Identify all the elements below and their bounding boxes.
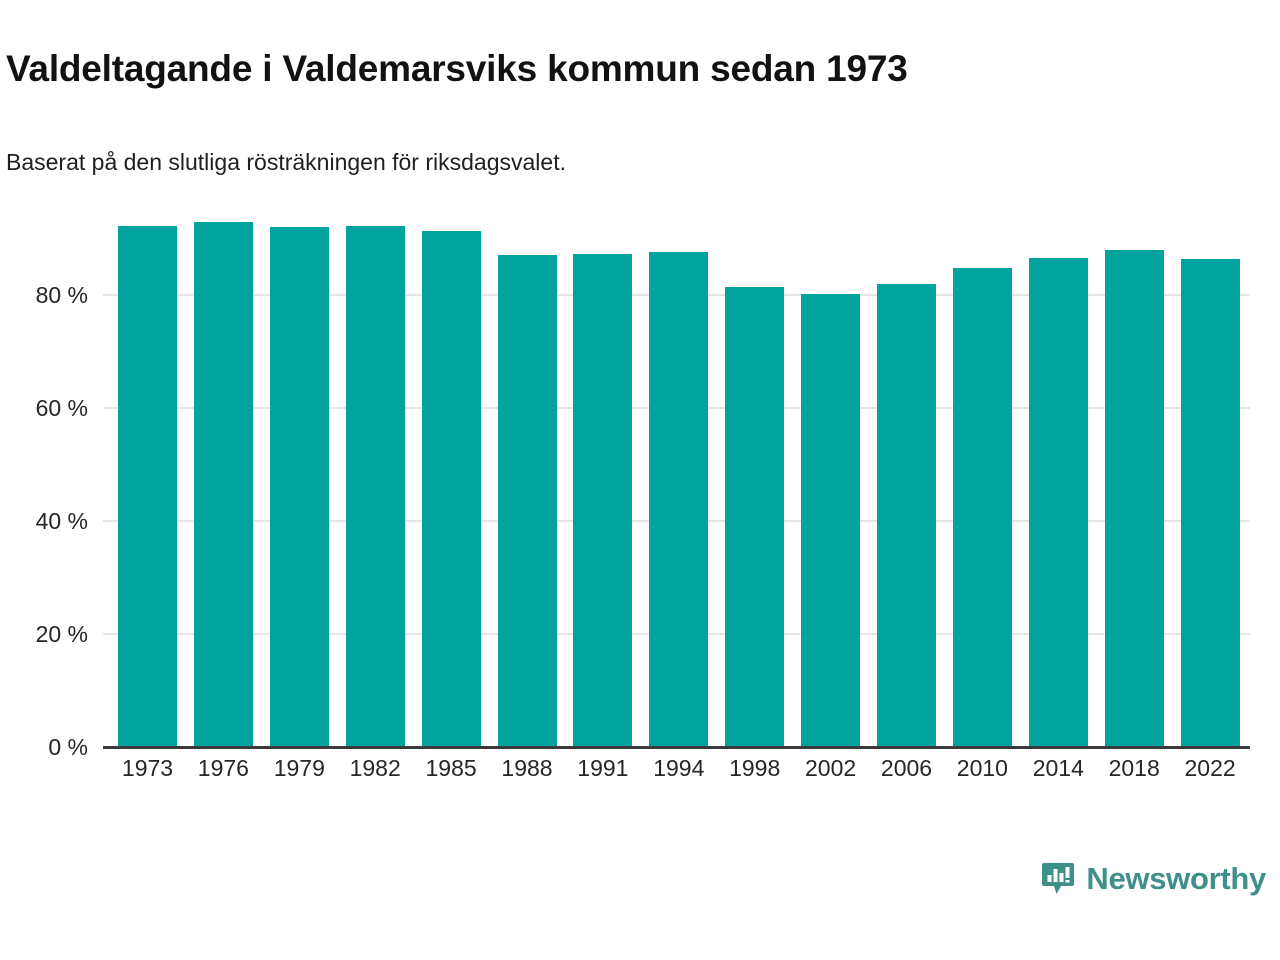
x-tick-label-2014: 2014 [1029,757,1088,780]
x-axis-labels: 1973197619791982198519881991199419982002… [0,0,1280,960]
x-tick-label-1988: 1988 [498,757,557,780]
x-tick-label-1976: 1976 [194,757,253,780]
brand-name: Newsworthy [1086,863,1266,894]
x-tick-label-2018: 2018 [1105,757,1164,780]
brand-footer: Newsworthy [1041,861,1266,895]
bar-chart-bubble-icon [1041,861,1075,895]
x-tick-label-2002: 2002 [801,757,860,780]
x-tick-label-2022: 2022 [1181,757,1240,780]
x-tick-label-1985: 1985 [422,757,481,780]
x-tick-label-1991: 1991 [573,757,632,780]
x-tick-label-1998: 1998 [725,757,784,780]
bar-chart: 0 %20 %40 %60 %80 % 19731976197919821985… [0,0,1280,960]
x-tick-label-1979: 1979 [270,757,329,780]
chart-page: Valdeltagande i Valdemarsviks kommun sed… [0,0,1280,960]
x-tick-label-1973: 1973 [118,757,177,780]
x-tick-label-2010: 2010 [953,757,1012,780]
x-tick-label-2006: 2006 [877,757,936,780]
x-tick-label-1982: 1982 [346,757,405,780]
x-tick-label-1994: 1994 [649,757,708,780]
